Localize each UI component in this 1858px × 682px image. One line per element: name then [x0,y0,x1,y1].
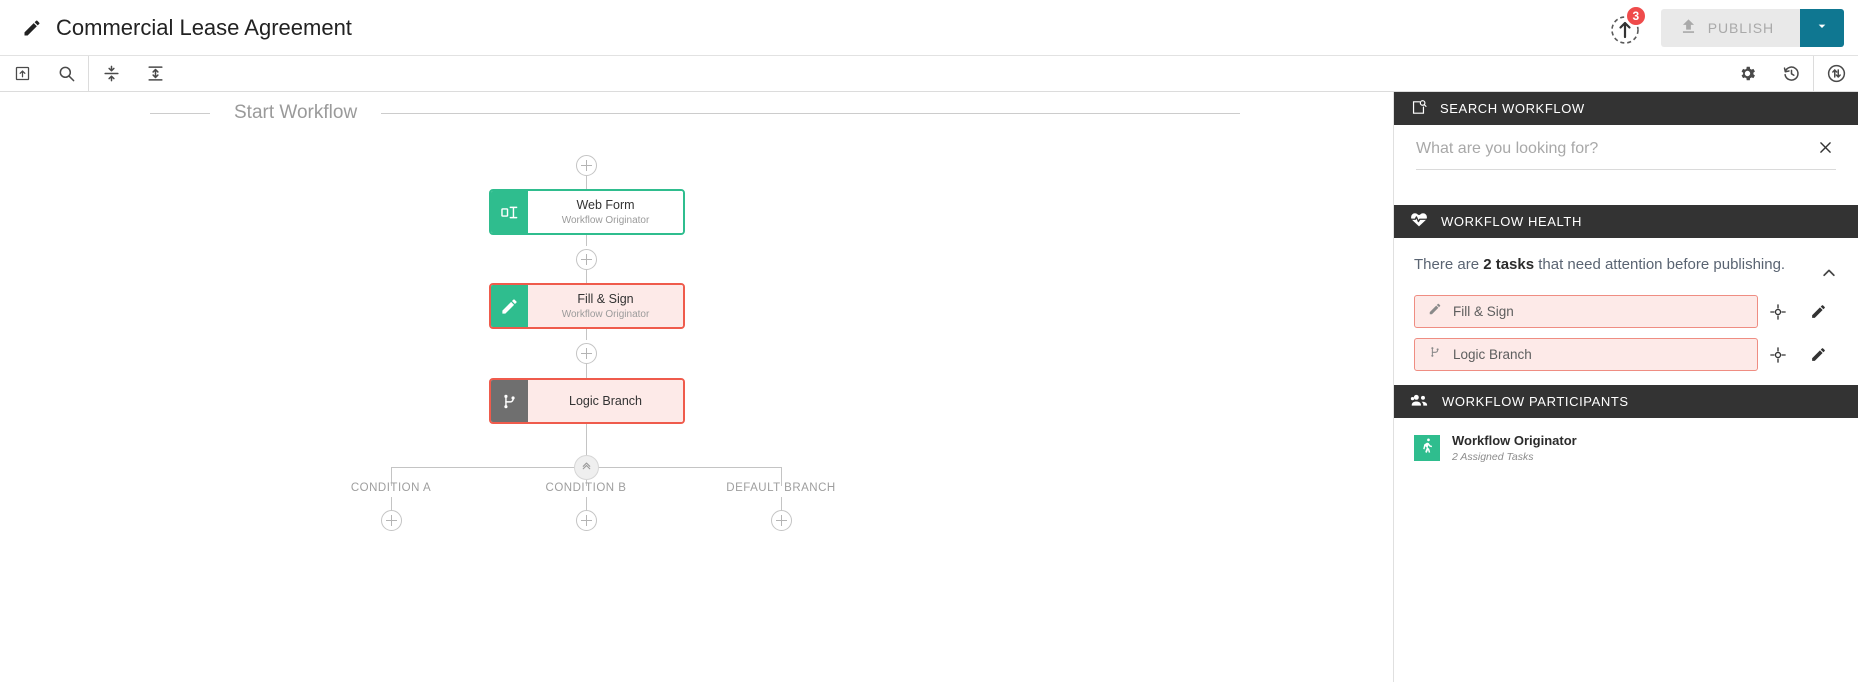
workflow-node-web-form[interactable]: Web Form Workflow Originator [489,189,685,235]
participant-task-count: 2 Assigned Tasks [1452,450,1577,464]
pencil-edit-icon[interactable] [1798,346,1838,363]
close-icon[interactable] [1815,139,1836,159]
workflow-health-summary: There are 2 tasks that need attention be… [1414,254,1838,285]
right-sidebar: SEARCH WORKFLOW WORKFLOW HEALTH There ar… [1393,92,1858,682]
search-row [1416,139,1836,170]
participant-info: Workflow Originator 2 Assigned Tasks [1452,432,1577,464]
search-workflow-header: SEARCH WORKFLOW [1394,92,1858,125]
add-step-before-web-form[interactable] [576,155,597,176]
node-title: Fill & Sign [577,292,633,307]
workflow-node-logic-branch[interactable]: Logic Branch [489,378,685,424]
chevron-up-icon[interactable] [1820,254,1838,285]
chevron-double-up-icon [580,459,593,477]
add-step-after-web-form[interactable] [576,249,597,270]
add-step-condition-a[interactable] [381,510,402,531]
gear-icon[interactable] [1725,56,1769,92]
workflow-participants-header: WORKFLOW PARTICIPANTS [1394,385,1858,418]
workflow-health-body: There are 2 tasks that need attention be… [1394,238,1858,385]
branch-label-condition-b: CONDITION B [546,482,627,494]
search-input[interactable] [1416,140,1815,158]
divider-line-right [381,113,1240,114]
health-task-row: Logic Branch [1414,338,1838,371]
branch-label-condition-a: CONDITION A [351,482,431,494]
web-form-icon [491,191,528,233]
branch-icon [1428,345,1442,364]
workflow-participants-title: WORKFLOW PARTICIPANTS [1442,395,1629,408]
collapse-branches-button[interactable] [574,455,599,480]
chevron-down-icon [1814,18,1830,37]
workflow-health-title: WORKFLOW HEALTH [1441,215,1582,228]
node-title: Logic Branch [569,394,642,409]
workflow-health-header: WORKFLOW HEALTH [1394,205,1858,238]
health-message: There are 2 tasks that need attention be… [1414,254,1820,277]
pencil-icon[interactable] [22,18,42,38]
add-step-condition-b[interactable] [576,510,597,531]
health-task-row: Fill & Sign [1414,295,1838,328]
publish-group: PUBLISH [1661,9,1844,47]
add-step-after-fill-sign[interactable] [576,343,597,364]
health-task-fill-and-sign[interactable]: Fill & Sign [1414,295,1758,328]
publish-dropdown-button[interactable] [1800,9,1844,47]
branch-label-default-branch: DEFAULT BRANCH [726,482,835,494]
history-icon[interactable] [1769,56,1813,92]
health-task-label: Logic Branch [1453,347,1532,362]
search-workflow-title: SEARCH WORKFLOW [1440,102,1585,115]
node-title: Web Form [576,198,634,213]
fit-vertical-icon[interactable] [89,56,133,92]
participant-name: Workflow Originator [1452,432,1577,450]
workflow-participants-body: Workflow Originator 2 Assigned Tasks [1394,418,1858,464]
crosshair-icon[interactable] [1758,346,1798,364]
start-workflow-label: Start Workflow [210,102,381,124]
start-workflow-divider: Start Workflow [150,102,1240,124]
pencil-edit-icon[interactable] [1798,303,1838,320]
health-task-label: Fill & Sign [1453,304,1514,319]
heartbeat-icon [1410,211,1428,232]
top-bar-actions: 3 PUBLISH [1605,0,1858,55]
sync-icon[interactable] [1814,56,1858,92]
branch-icon [491,380,528,422]
toolbar-left-group [0,56,177,91]
workflow-node-body: Web Form Workflow Originator [528,191,683,233]
node-subtitle: Workflow Originator [562,214,650,227]
avatar [1414,435,1440,461]
participant-row[interactable]: Workflow Originator 2 Assigned Tasks [1414,432,1858,464]
add-step-default-branch[interactable] [771,510,792,531]
page-title: Commercial Lease Agreement [56,15,352,41]
divider-line-left [150,113,210,114]
workflow-node-body: Logic Branch [528,380,683,422]
workflow-canvas[interactable]: Start Workflow Web Form Workflow Origina… [0,92,1393,682]
crosshair-icon[interactable] [1758,303,1798,321]
toolbar-right-group [1725,56,1858,91]
upload-circle-icon[interactable]: 3 [1605,8,1645,48]
health-task-count: 2 tasks [1483,256,1534,273]
health-message-suffix: that need attention before publishing. [1534,256,1785,273]
health-message-prefix: There are [1414,256,1483,273]
search-workflow-body [1394,125,1858,205]
pencil-icon [1428,302,1442,321]
document-title-group[interactable]: Commercial Lease Agreement [22,15,352,41]
pencil-icon [491,285,528,327]
search-document-icon [1410,99,1427,119]
workflow-node-fill-and-sign[interactable]: Fill & Sign Workflow Originator [489,283,685,329]
top-bar: Commercial Lease Agreement 3 PUBLISH [0,0,1858,56]
workflow-node-body: Fill & Sign Workflow Originator [528,285,683,327]
toolbar [0,56,1858,92]
search-icon[interactable] [44,56,88,92]
publish-button[interactable]: PUBLISH [1661,9,1800,47]
publish-button-label: PUBLISH [1708,20,1774,36]
upload-badge-count: 3 [1625,5,1647,27]
expand-vertical-icon[interactable] [133,56,177,92]
upload-icon [1679,17,1698,39]
people-icon [1410,391,1429,413]
import-icon[interactable] [0,56,44,92]
runner-icon [1419,437,1435,458]
node-subtitle: Workflow Originator [562,308,650,321]
health-task-logic-branch[interactable]: Logic Branch [1414,338,1758,371]
